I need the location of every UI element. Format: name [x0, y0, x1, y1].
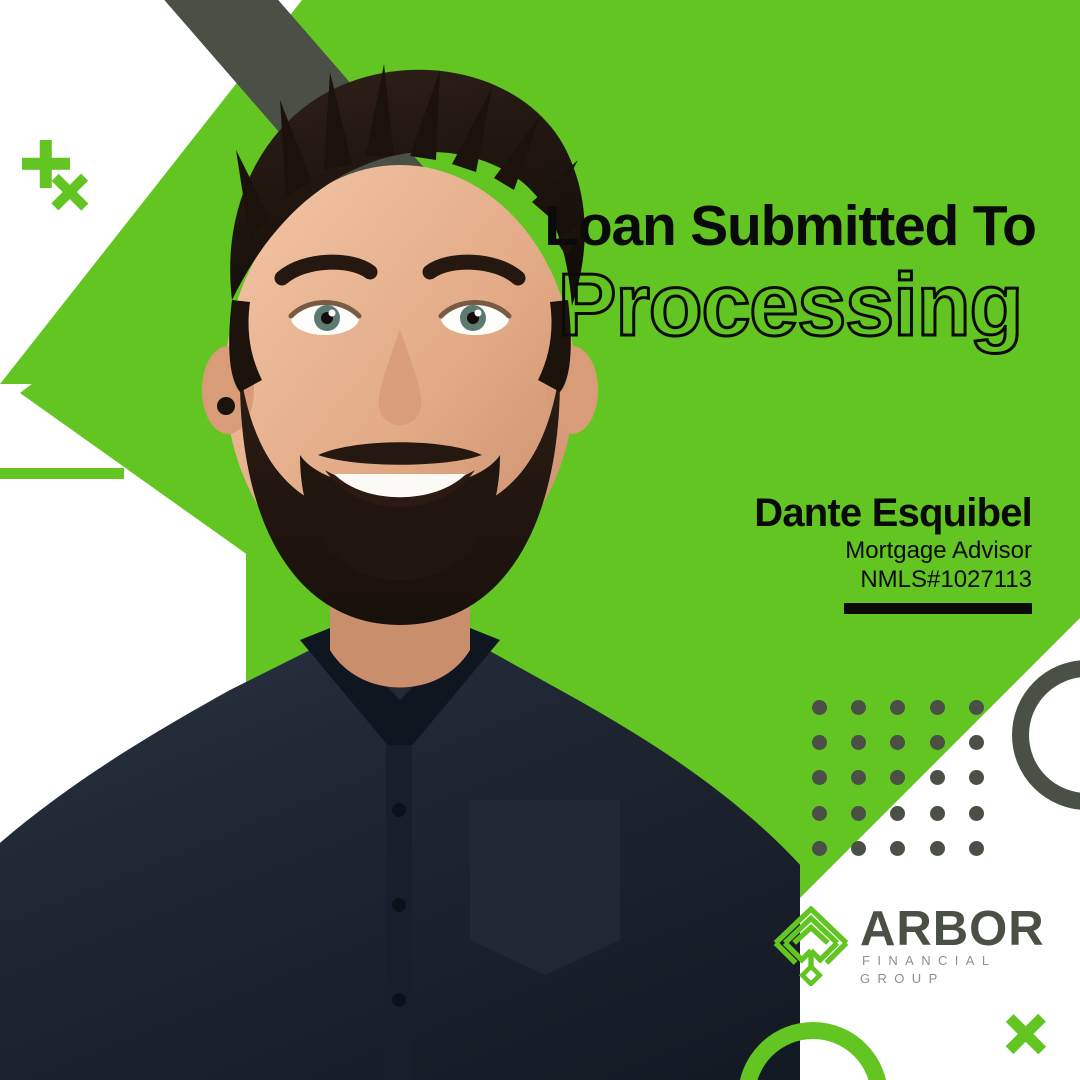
- logo-wordmark: ARBOR: [860, 902, 1045, 956]
- grid-dot: [890, 841, 905, 856]
- grid-dot: [930, 770, 945, 785]
- grid-dot: [930, 841, 945, 856]
- grid-dot: [890, 770, 905, 785]
- grid-dot: [812, 770, 827, 785]
- advisor-title: Mortgage Advisor: [600, 536, 1032, 566]
- arbor-financial-group-logo: ARBOR FINANCIAL GROUP: [772, 902, 1062, 990]
- grid-dot: [930, 700, 945, 715]
- grid-dot: [969, 770, 984, 785]
- grid-dot: [969, 806, 984, 821]
- grid-dot: [890, 700, 905, 715]
- logo-tagline: FINANCIAL GROUP: [860, 953, 996, 986]
- green-x-icon: [1004, 1012, 1048, 1056]
- grid-dot: [851, 735, 866, 750]
- headline-line-1: Loan Submitted To: [540, 198, 1040, 255]
- headline-line-2-outlined: Processing: [540, 259, 1040, 351]
- advisor-nmls-number: NMLS#1027113: [600, 566, 1032, 595]
- grid-dot: [969, 700, 984, 715]
- marketing-poster: Loan Submitted To Processing Dante Esqui…: [0, 0, 1080, 1080]
- grid-dot: [890, 806, 905, 821]
- headline: Loan Submitted To Processing: [540, 198, 1040, 351]
- grid-dot: [930, 806, 945, 821]
- grid-dot: [851, 770, 866, 785]
- grid-dot: [812, 735, 827, 750]
- arbor-chevron-diamond-mark-icon: [772, 906, 850, 986]
- grid-dot: [851, 841, 866, 856]
- grid-dot: [969, 841, 984, 856]
- dark-ring-icon: [1012, 660, 1080, 810]
- advisor-info-block: Dante Esquibel Mortgage Advisor NMLS#102…: [600, 492, 1032, 614]
- grid-dot: [890, 735, 905, 750]
- grid-dot: [930, 735, 945, 750]
- logo-text-group: ARBOR FINANCIAL GROUP: [860, 904, 1062, 989]
- grid-dot: [812, 700, 827, 715]
- grid-dot: [812, 841, 827, 856]
- green-x-icon: [50, 172, 90, 212]
- grid-dot: [969, 735, 984, 750]
- dot-grid-pattern: [812, 700, 1008, 876]
- grid-dot: [812, 806, 827, 821]
- advisor-name: Dante Esquibel: [600, 492, 1032, 534]
- grid-dot: [851, 700, 866, 715]
- grid-dot: [851, 806, 866, 821]
- advisor-underline-bar: [844, 603, 1032, 614]
